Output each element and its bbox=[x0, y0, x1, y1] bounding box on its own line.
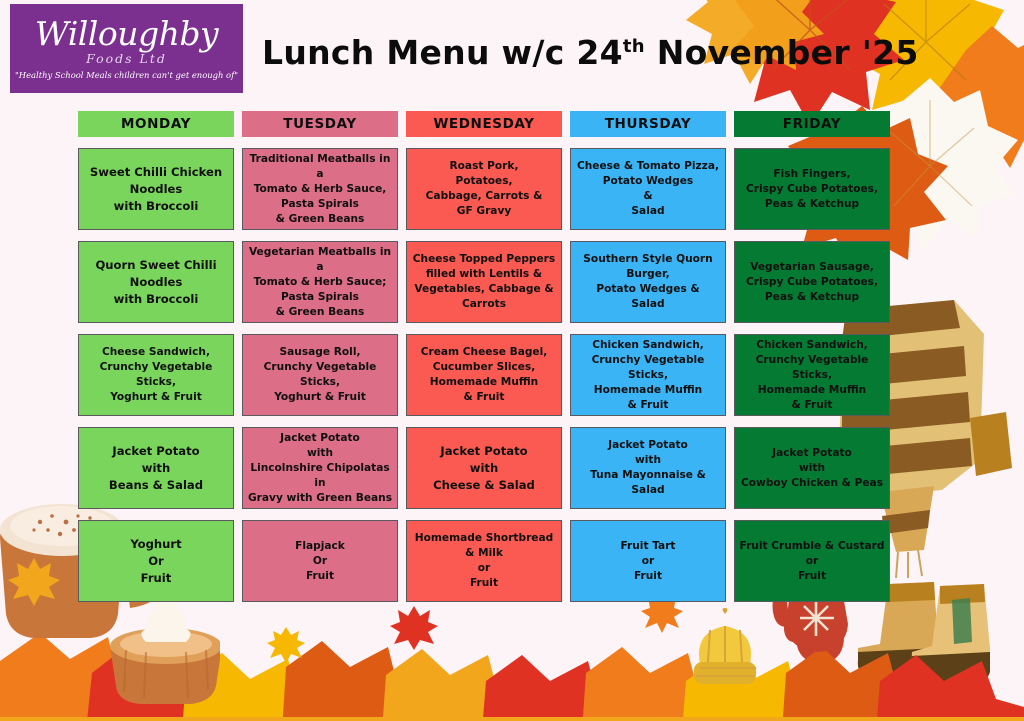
weekly-menu-grid: MONDAYSweet Chilli ChickenNoodleswith Br… bbox=[78, 111, 890, 613]
menu-cell-friday-jacket-potato: Jacket PotatowithCowboy Chicken & Peas bbox=[734, 427, 890, 509]
menu-line: Noodles bbox=[83, 181, 229, 198]
menu-line: Jacket Potato bbox=[739, 446, 885, 461]
menu-line: Peas & Ketchup bbox=[739, 290, 885, 305]
menu-line: Cheese & Salad bbox=[411, 477, 557, 494]
day-header-thursday: THURSDAY bbox=[570, 111, 726, 137]
menu-line: Gravy with Green Beans bbox=[247, 491, 393, 506]
menu-line: Potato Wedges & bbox=[575, 282, 721, 297]
menu-line: or bbox=[739, 554, 885, 569]
menu-line: Potato Wedges bbox=[575, 174, 721, 189]
menu-line: Sausage Roll, bbox=[247, 345, 393, 360]
menu-cell-friday-dessert: Fruit Crumble & CustardorFruit bbox=[734, 520, 890, 602]
menu-line: Cheese & Tomato Pizza, bbox=[575, 159, 721, 174]
menu-line: Jacket Potato bbox=[575, 438, 721, 453]
menu-cell-tuesday-jacket-potato: Jacket PotatowithLincolnshire Chipolatas… bbox=[242, 427, 398, 509]
day-column-tuesday: TUESDAYTraditional Meatballs in aTomato … bbox=[242, 111, 398, 613]
menu-line: Cheese Topped Peppers bbox=[411, 252, 557, 267]
menu-line: Cowboy Chicken & Peas bbox=[739, 476, 885, 491]
menu-line: Roast Pork, bbox=[411, 159, 557, 174]
menu-cell-friday-packed-lunch: Chicken Sandwich,Crunchy Vegetable Stick… bbox=[734, 334, 890, 416]
scattered-oak-leaf bbox=[266, 626, 306, 664]
menu-cell-wednesday-dessert: Homemade Shortbread& MilkorFruit bbox=[406, 520, 562, 602]
menu-line: & Fruit bbox=[575, 398, 721, 413]
menu-cell-tuesday-dessert: FlapjackOrFruit bbox=[242, 520, 398, 602]
day-column-thursday: THURSDAYCheese & Tomato Pizza,Potato Wed… bbox=[570, 111, 726, 613]
company-logo: Willoughby Foods Ltd "Healthy School Mea… bbox=[10, 4, 243, 93]
day-column-monday: MONDAYSweet Chilli ChickenNoodleswith Br… bbox=[78, 111, 234, 613]
menu-line: Carrots bbox=[411, 297, 557, 312]
menu-line: Vegetarian Sausage, bbox=[739, 260, 885, 275]
menu-line: Jacket Potato bbox=[83, 443, 229, 460]
day-header-monday: MONDAY bbox=[78, 111, 234, 137]
menu-line: & Fruit bbox=[411, 390, 557, 405]
menu-cell-thursday-packed-lunch: Chicken Sandwich,Crunchy Vegetable Stick… bbox=[570, 334, 726, 416]
menu-line: Southern Style Quorn bbox=[575, 252, 721, 267]
menu-line: Crunchy Vegetable Sticks, bbox=[739, 353, 885, 383]
menu-cell-monday-packed-lunch: Cheese Sandwich,Crunchy Vegetable Sticks… bbox=[78, 334, 234, 416]
title-suffix: November '25 bbox=[645, 33, 919, 72]
menu-cell-monday-main-meal: Sweet Chilli ChickenNoodleswith Broccoli bbox=[78, 148, 234, 230]
menu-cell-monday-jacket-potato: Jacket PotatowithBeans & Salad bbox=[78, 427, 234, 509]
menu-line: Quorn Sweet Chilli bbox=[83, 257, 229, 274]
menu-line: Vegetables, Cabbage & bbox=[411, 282, 557, 297]
menu-cell-monday-dessert: YoghurtOrFruit bbox=[78, 520, 234, 602]
menu-line: Yoghurt bbox=[83, 536, 229, 553]
menu-cell-tuesday-packed-lunch: Sausage Roll,Crunchy Vegetable Sticks,Yo… bbox=[242, 334, 398, 416]
menu-cell-thursday-jacket-potato: Jacket PotatowithTuna Mayonnaise & Salad bbox=[570, 427, 726, 509]
menu-line: with Broccoli bbox=[83, 198, 229, 215]
menu-line: Potatoes, bbox=[411, 174, 557, 189]
menu-line: Tomato & Herb Sauce; bbox=[247, 275, 393, 290]
menu-line: Or bbox=[247, 554, 393, 569]
menu-line: Jacket Potato bbox=[411, 443, 557, 460]
menu-line: Homemade Muffin bbox=[411, 375, 557, 390]
menu-line: Tuna Mayonnaise & Salad bbox=[575, 468, 721, 498]
menu-line: Pasta Spirals bbox=[247, 290, 393, 305]
menu-line: or bbox=[411, 561, 557, 576]
menu-line: & Fruit bbox=[739, 398, 885, 413]
menu-line: Fruit Tart bbox=[575, 539, 721, 554]
page-title: Lunch Menu w/c 24th November '25 bbox=[262, 33, 919, 72]
day-header-friday: FRIDAY bbox=[734, 111, 890, 137]
menu-line: Fruit bbox=[411, 576, 557, 591]
title-ordinal: th bbox=[623, 36, 645, 57]
menu-line: Beans & Salad bbox=[83, 477, 229, 494]
logo-subtitle: Foods Ltd bbox=[86, 51, 167, 66]
menu-line: Tomato & Herb Sauce, bbox=[247, 182, 393, 197]
menu-cell-monday-vegetarian-meal: Quorn Sweet ChilliNoodleswith Broccoli bbox=[78, 241, 234, 323]
menu-line: & Milk bbox=[411, 546, 557, 561]
menu-line: Fish Fingers, bbox=[739, 167, 885, 182]
menu-cell-wednesday-jacket-potato: Jacket PotatowithCheese & Salad bbox=[406, 427, 562, 509]
menu-line: Fruit bbox=[575, 569, 721, 584]
menu-line: with bbox=[575, 453, 721, 468]
menu-line: Fruit bbox=[247, 569, 393, 584]
menu-line: & bbox=[575, 189, 721, 204]
menu-line: Homemade Muffin bbox=[575, 383, 721, 398]
menu-line: with bbox=[411, 460, 557, 477]
menu-line: Cheese Sandwich, bbox=[83, 345, 229, 360]
menu-line: Salad bbox=[575, 297, 721, 312]
menu-line: Crispy Cube Potatoes, bbox=[739, 275, 885, 290]
menu-line: Cucumber Slices, bbox=[411, 360, 557, 375]
menu-cell-tuesday-main-meal: Traditional Meatballs in aTomato & Herb … bbox=[242, 148, 398, 230]
menu-line: Traditional Meatballs in a bbox=[247, 152, 393, 182]
menu-line: with bbox=[247, 446, 393, 461]
menu-line: Homemade Muffin bbox=[739, 383, 885, 398]
menu-line: & Green Beans bbox=[247, 305, 393, 320]
menu-line: filled with Lentils & bbox=[411, 267, 557, 282]
menu-cell-wednesday-main-meal: Roast Pork,Potatoes,Cabbage, Carrots &GF… bbox=[406, 148, 562, 230]
menu-line: with bbox=[739, 461, 885, 476]
day-column-wednesday: WEDNESDAYRoast Pork,Potatoes,Cabbage, Ca… bbox=[406, 111, 562, 613]
menu-line: Homemade Shortbread bbox=[411, 531, 557, 546]
menu-line: Lincolnshire Chipolatas in bbox=[247, 461, 393, 491]
menu-line: Fruit bbox=[739, 569, 885, 584]
menu-cell-thursday-main-meal: Cheese & Tomato Pizza,Potato Wedges&Sala… bbox=[570, 148, 726, 230]
menu-line: Cream Cheese Bagel, bbox=[411, 345, 557, 360]
lunch-menu-poster: Willoughby Foods Ltd "Healthy School Mea… bbox=[0, 0, 1024, 721]
menu-cell-thursday-vegetarian-meal: Southern Style QuornBurger,Potato Wedges… bbox=[570, 241, 726, 323]
menu-cell-tuesday-vegetarian-meal: Vegetarian Meatballs in aTomato & Herb S… bbox=[242, 241, 398, 323]
menu-cell-wednesday-vegetarian-meal: Cheese Topped Peppersfilled with Lentils… bbox=[406, 241, 562, 323]
title-prefix: Lunch Menu w/c 24 bbox=[262, 33, 623, 72]
day-column-friday: FRIDAYFish Fingers,Crispy Cube Potatoes,… bbox=[734, 111, 890, 613]
menu-line: Vegetarian Meatballs in a bbox=[247, 245, 393, 275]
day-header-tuesday: TUESDAY bbox=[242, 111, 398, 137]
menu-line: Yoghurt & Fruit bbox=[83, 390, 229, 405]
logo-wordmark: Willoughby bbox=[35, 17, 218, 50]
menu-line: or bbox=[575, 554, 721, 569]
menu-line: & Green Beans bbox=[247, 212, 393, 227]
menu-line: Noodles bbox=[83, 274, 229, 291]
menu-cell-friday-vegetarian-meal: Vegetarian Sausage,Crispy Cube Potatoes,… bbox=[734, 241, 890, 323]
menu-line: with bbox=[83, 460, 229, 477]
menu-line: Chicken Sandwich, bbox=[575, 338, 721, 353]
menu-line: Cabbage, Carrots & bbox=[411, 189, 557, 204]
menu-line: GF Gravy bbox=[411, 204, 557, 219]
menu-line: Salad bbox=[575, 204, 721, 219]
menu-line: Crunchy Vegetable Sticks, bbox=[575, 353, 721, 383]
menu-line: Pasta Spirals bbox=[247, 197, 393, 212]
menu-line: Or bbox=[83, 553, 229, 570]
day-header-wednesday: WEDNESDAY bbox=[406, 111, 562, 137]
menu-line: with Broccoli bbox=[83, 291, 229, 308]
menu-cell-friday-main-meal: Fish Fingers,Crispy Cube Potatoes,Peas &… bbox=[734, 148, 890, 230]
menu-cell-wednesday-packed-lunch: Cream Cheese Bagel,Cucumber Slices,Homem… bbox=[406, 334, 562, 416]
menu-line: Flapjack bbox=[247, 539, 393, 554]
knit-hat-icon bbox=[686, 608, 764, 694]
logo-tagline: "Healthy School Meals children can't get… bbox=[15, 70, 238, 80]
menu-line: Fruit bbox=[83, 570, 229, 587]
menu-cell-thursday-dessert: Fruit TartorFruit bbox=[570, 520, 726, 602]
left-maple-leaf bbox=[6, 556, 62, 608]
menu-line: Crunchy Vegetable Sticks, bbox=[247, 360, 393, 390]
menu-line: Crunchy Vegetable Sticks, bbox=[83, 360, 229, 390]
menu-line: Sweet Chilli Chicken bbox=[83, 164, 229, 181]
menu-line: Chicken Sandwich, bbox=[739, 338, 885, 353]
menu-line: Crispy Cube Potatoes, bbox=[739, 182, 885, 197]
menu-line: Yoghurt & Fruit bbox=[247, 390, 393, 405]
menu-line: Jacket Potato bbox=[247, 431, 393, 446]
menu-line: Burger, bbox=[575, 267, 721, 282]
menu-line: Fruit Crumble & Custard bbox=[739, 539, 885, 554]
menu-line: Peas & Ketchup bbox=[739, 197, 885, 212]
